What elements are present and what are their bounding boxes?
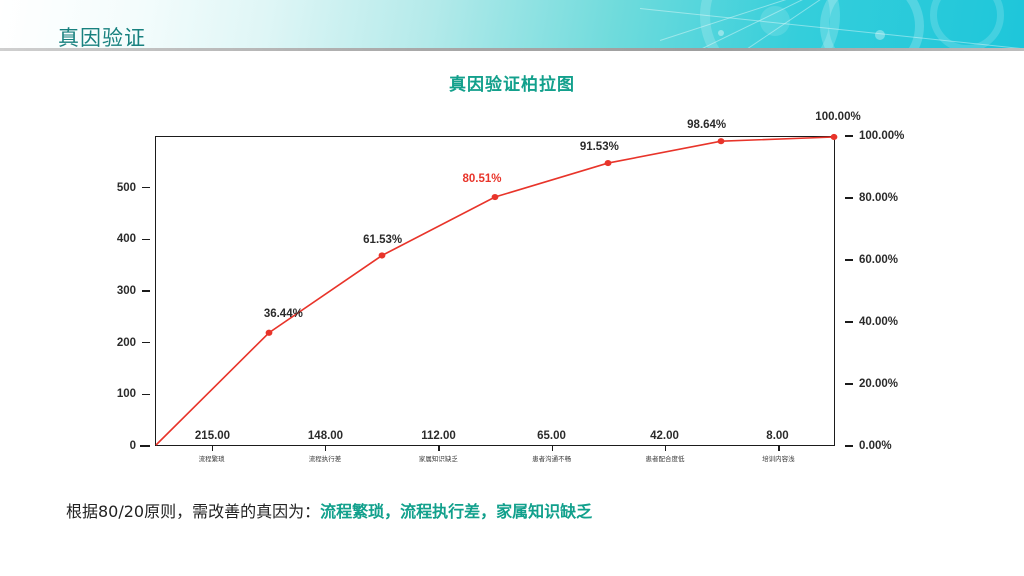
cumulative-percentage-label: 100.00%	[815, 111, 860, 123]
y-axis-right-tick-mark	[845, 197, 853, 198]
cumulative-line-marker	[718, 138, 725, 144]
y-axis-left-tick-label: 200	[117, 337, 136, 349]
slide-header-band	[0, 0, 1024, 48]
y-axis-left-tick-mark	[142, 187, 150, 188]
cumulative-percentage-label: 80.51%	[462, 173, 501, 185]
cumulative-percentage-label: 61.53%	[363, 234, 402, 246]
x-axis-tick-mark	[325, 446, 326, 451]
header-divider	[0, 48, 1024, 51]
header-circle-decoration	[820, 0, 924, 48]
y-axis-left-tick-label: 400	[117, 233, 136, 245]
x-axis-tick-mark	[552, 446, 553, 451]
x-axis-tick-mark	[212, 446, 213, 451]
caption-prefix: 根据80/20原则，需改善的真因为：	[66, 502, 320, 521]
y-axis-right-tick-label: 20.00%	[859, 378, 898, 390]
header-circle-decoration	[930, 0, 1004, 48]
y-axis-right-tick-mark	[845, 445, 853, 446]
caption-emphasis: 流程繁琐，流程执行差，家属知识缺乏	[320, 502, 592, 521]
x-axis-tick-mark	[778, 446, 779, 451]
cumulative-line-marker	[831, 134, 838, 140]
page-title: 真因验证	[58, 22, 146, 52]
y-axis-right-tick-mark	[845, 135, 853, 136]
cumulative-line-marker	[266, 330, 273, 336]
x-axis-tick-label: 患者沟通不畅	[532, 453, 571, 463]
cumulative-percentage-label: 36.44%	[264, 308, 303, 320]
x-axis-tick-label: 流程执行差	[309, 453, 342, 463]
y-axis-right-tick-label: 0.00%	[859, 440, 892, 452]
y-axis-left-tick-mark	[142, 239, 150, 240]
x-axis-tick-mark	[665, 446, 666, 451]
cumulative-line-marker	[379, 252, 386, 258]
chart-plot-area: 215.00148.00112.0065.0042.008.00 36.44%6…	[155, 136, 835, 446]
y-axis-left-tick-label: 0	[130, 440, 136, 452]
y-axis-left-tick-mark	[142, 342, 150, 343]
y-axis-right-tick-label: 60.00%	[859, 254, 898, 266]
x-axis: 流程繁琐流程执行差家属知识缺乏患者沟通不畅患者配合度低培训内容浅	[155, 446, 835, 470]
x-axis-tick-label: 培训内容浅	[762, 453, 795, 463]
y-axis-right-tick-mark	[845, 383, 853, 384]
y-axis-left-tick-mark	[142, 290, 150, 291]
y-axis-left-tick-label: 100	[117, 388, 136, 400]
y-axis-left-tick-mark	[142, 394, 150, 395]
header-dot-decoration	[875, 30, 885, 40]
cumulative-line-marker	[492, 194, 499, 200]
y-axis-right: 0.00%20.00%40.00%60.00%80.00%100.00%	[845, 136, 935, 446]
x-axis-tick-mark	[438, 446, 439, 451]
cumulative-percentage-label: 98.64%	[687, 119, 726, 131]
y-axis-right-tick-label: 40.00%	[859, 316, 898, 328]
slide: 真因验证 真因验证柏拉图 215.00148.00112.0065.0042.0…	[0, 0, 1024, 576]
y-axis-left-tick-mark	[140, 445, 150, 446]
y-axis-right-tick-label: 100.00%	[859, 130, 904, 142]
y-axis-left-tick-label: 500	[117, 182, 136, 194]
conclusion-caption: 根据80/20原则，需改善的真因为：流程繁琐，流程执行差，家属知识缺乏	[66, 498, 592, 522]
y-axis-right-tick-mark	[845, 259, 853, 260]
y-axis-right-tick-label: 80.00%	[859, 192, 898, 204]
cumulative-percentage-label: 91.53%	[580, 141, 619, 153]
header-circle-decoration	[700, 0, 840, 48]
x-axis-tick-label: 患者配合度低	[646, 453, 685, 463]
header-dot-decoration	[718, 30, 724, 36]
chart-title: 真因验证柏拉图	[0, 70, 1024, 95]
y-axis-left: 0100200300400500	[95, 136, 150, 446]
y-axis-left-tick-label: 300	[117, 285, 136, 297]
y-axis-right-tick-mark	[845, 321, 853, 322]
x-axis-tick-label: 流程繁琐	[199, 453, 225, 463]
cumulative-line-marker	[605, 160, 612, 166]
x-axis-tick-label: 家属知识缺乏	[419, 453, 458, 463]
